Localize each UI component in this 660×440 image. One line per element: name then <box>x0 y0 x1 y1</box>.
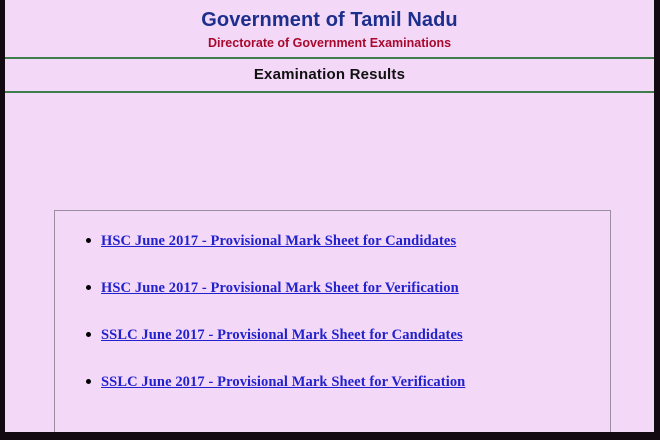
bullet-icon <box>86 332 91 337</box>
link-sslc-june-2017-verification[interactable]: SSLC June 2017 - Provisional Mark Sheet … <box>101 374 465 390</box>
site-masthead: Government of Tamil Nadu Directorate of … <box>5 0 654 57</box>
content-area: HSC June 2017 - Provisional Mark Sheet f… <box>5 93 654 432</box>
list-item: SSLC June 2017 - Provisional Mark Sheet … <box>55 374 610 390</box>
section-banner: Examination Results <box>5 59 654 91</box>
list-item: HSC June 2017 - Provisional Mark Sheet f… <box>55 280 610 296</box>
browser-viewport-frame: Government of Tamil Nadu Directorate of … <box>0 0 660 440</box>
link-hsc-june-2017-verification[interactable]: HSC June 2017 - Provisional Mark Sheet f… <box>101 280 459 296</box>
section-banner-title: Examination Results <box>5 66 654 83</box>
results-links-list: HSC June 2017 - Provisional Mark Sheet f… <box>55 211 610 390</box>
bullet-icon <box>86 238 91 243</box>
link-hsc-june-2017-candidates[interactable]: HSC June 2017 - Provisional Mark Sheet f… <box>101 233 456 249</box>
list-item: HSC June 2017 - Provisional Mark Sheet f… <box>55 233 610 249</box>
page-canvas: Government of Tamil Nadu Directorate of … <box>5 0 654 432</box>
bullet-icon <box>86 285 91 290</box>
bullet-icon <box>86 379 91 384</box>
page-title: Government of Tamil Nadu <box>5 8 654 33</box>
results-links-panel: HSC June 2017 - Provisional Mark Sheet f… <box>54 210 611 432</box>
site-subtitle: Directorate of Government Examinations <box>5 36 654 51</box>
list-item: SSLC June 2017 - Provisional Mark Sheet … <box>55 327 610 343</box>
link-sslc-june-2017-candidates[interactable]: SSLC June 2017 - Provisional Mark Sheet … <box>101 327 463 343</box>
